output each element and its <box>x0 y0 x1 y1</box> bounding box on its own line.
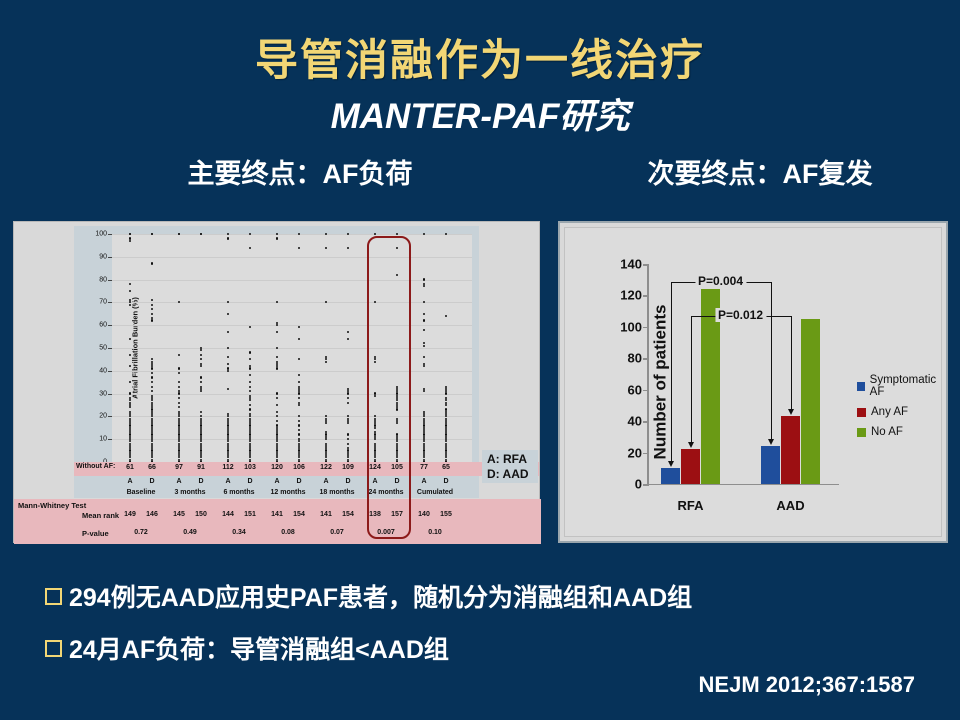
dotplot-point <box>423 285 425 287</box>
dotplot-tick-label: 20 <box>99 413 107 420</box>
dotplot-column <box>345 234 352 462</box>
dotplot-column <box>274 234 281 462</box>
dotplot-gridline <box>112 257 472 258</box>
dotplot-point <box>227 237 229 239</box>
primary-endpoint-label: 主要终点：AF负荷 <box>110 152 490 191</box>
dotplot-point <box>445 392 447 394</box>
dotplot-point <box>249 399 251 401</box>
bar-rfa-symptomatic-af <box>661 468 680 484</box>
dotplot-tick-mark <box>108 371 112 372</box>
dotplot-point <box>276 324 278 326</box>
dotplot-point <box>298 381 300 383</box>
dotplot-axes: Atrial Fibrillation Burden (%) 010203040… <box>112 234 472 463</box>
dotplot-point <box>178 372 180 374</box>
dotplot-point <box>374 361 376 363</box>
dotplot-point <box>227 370 229 372</box>
p-value-cell: 0.10 <box>410 529 460 536</box>
dotplot-tick-mark <box>108 257 112 258</box>
dotplot-point <box>298 247 300 249</box>
dotplot-point <box>178 354 180 356</box>
dotplot-point <box>276 301 278 303</box>
dotplot-point <box>298 433 300 435</box>
dotplot-column <box>127 234 134 462</box>
dotplot-point <box>298 424 300 426</box>
dotplot-point <box>129 233 131 235</box>
dotplot-point <box>200 349 202 351</box>
dotplot-point <box>249 390 251 392</box>
barchart-tick-mark <box>643 421 649 423</box>
dotplot-point <box>276 347 278 349</box>
dotplot-point <box>227 233 229 235</box>
dotplot-point <box>249 233 251 235</box>
legend-item-any-af: Any AF <box>857 406 941 418</box>
dotplot-point <box>227 388 229 390</box>
dotplot-point <box>347 233 349 235</box>
dotplot-point <box>129 354 131 356</box>
p-value-row-label: P-value <box>82 529 109 538</box>
dotplot-point <box>423 301 425 303</box>
dotplot-point <box>178 397 180 399</box>
p-value-annotation-label: P=0.012 <box>715 308 766 322</box>
group-key-a: A: RFA <box>487 452 538 467</box>
dotplot-point <box>276 404 278 406</box>
dotplot-point <box>129 392 131 394</box>
dotplot-point <box>151 308 153 310</box>
dotplot-point <box>151 381 153 383</box>
dotplot-point <box>347 422 349 424</box>
dotplot-point <box>178 367 180 369</box>
dotplot-tick-mark <box>108 439 112 440</box>
legend-label: Any AF <box>871 406 908 418</box>
legend-swatch-icon <box>857 408 866 417</box>
bullet-square-icon <box>45 640 62 657</box>
dotplot-point <box>325 422 327 424</box>
barchart-tick-mark <box>643 295 649 297</box>
dotplot-tick-label: 50 <box>99 345 107 352</box>
dotplot-point <box>151 319 153 321</box>
dotplot-point <box>151 390 153 392</box>
p-value-arrow-head-icon <box>788 409 794 415</box>
p-value-arrow-line <box>771 282 772 440</box>
dotplot-point <box>423 356 425 358</box>
dotplot-point <box>347 438 349 440</box>
bar-aad-symptomatic-af <box>761 446 780 484</box>
mann-whitney-title: Mann-Whitney Test <box>18 501 86 510</box>
dotplot-point <box>276 367 278 369</box>
legend-item-symptomatic-af: Symptomatic AF <box>857 374 941 398</box>
barchart-x-label: AAD <box>776 498 804 513</box>
barchart-axes: 020406080100120140 RFAAAD P=0.004P=0.012 <box>647 264 839 485</box>
barchart-tick-label: 120 <box>620 288 642 303</box>
dotplot-point <box>276 420 278 422</box>
dotplot-point <box>200 376 202 378</box>
dotplot-point <box>325 438 327 440</box>
without-af-count: 65 <box>426 464 466 471</box>
dotplot-point <box>276 415 278 417</box>
dotplot-point <box>347 433 349 435</box>
dotplot-point <box>249 408 251 410</box>
dotplot-gridline <box>112 302 472 303</box>
dotplot-point <box>423 233 425 235</box>
bullet-square-icon <box>45 588 62 605</box>
barchart-tick-mark <box>643 484 649 486</box>
dotplot-point <box>178 402 180 404</box>
dotplot-point <box>178 301 180 303</box>
dotplot-point <box>151 376 153 378</box>
barchart-x-label: RFA <box>678 498 704 513</box>
dotplot-point <box>298 429 300 431</box>
dotplot-point <box>200 358 202 360</box>
dotplot-inner-box: Atrial Fibrillation Burden (%) 010203040… <box>74 226 479 498</box>
dotplot-point <box>298 404 300 406</box>
dotplot-point <box>423 319 425 321</box>
dotplot-point <box>129 338 131 340</box>
dotplot-point <box>249 381 251 383</box>
bullet-text: 24月AF负荷：导管消融组<AAD组 <box>69 630 449 666</box>
dotplot-tick-mark <box>108 280 112 281</box>
dotplot-point <box>298 374 300 376</box>
timepoint-label: Cumulated <box>400 489 470 496</box>
dotplot-point <box>129 381 131 383</box>
dotplot-tick-mark <box>108 348 112 349</box>
dotplot-point <box>347 331 349 333</box>
dotplot-point <box>298 397 300 399</box>
dotplot-gridline <box>112 234 472 235</box>
dotplot-point <box>178 381 180 383</box>
dotplot-tick-label: 100 <box>95 231 107 238</box>
dotplot-tick-label: 70 <box>99 299 107 306</box>
legend-swatch-icon <box>857 382 865 391</box>
dotplot-point <box>178 233 180 235</box>
dotplot-point <box>276 392 278 394</box>
p-value-cell: 0.08 <box>263 529 313 536</box>
dotplot-tick-mark <box>108 394 112 395</box>
bullet-text: 294例无AAD应用史PAF患者，随机分为消融组和AAD组 <box>69 578 692 614</box>
dotplot-point <box>129 406 131 408</box>
barchart-tick-label: 40 <box>628 414 642 429</box>
dotplot-point <box>374 438 376 440</box>
dotplot-point <box>325 233 327 235</box>
p-value-annotation-label: P=0.004 <box>695 274 746 288</box>
dotplot-point <box>423 365 425 367</box>
p-value-cell: 0.72 <box>116 529 166 536</box>
p-value-cell: 0.49 <box>165 529 215 536</box>
barchart-legend: Symptomatic AFAny AFNo AF <box>857 374 941 446</box>
dotplot-point <box>249 351 251 353</box>
af-burden-dotplot-panel: Atrial Fibrillation Burden (%) 010203040… <box>13 221 540 543</box>
bullet-item-2: 24月AF负荷：导管消融组<AAD组 <box>45 630 449 666</box>
group-key-legend: A: RFA D: AAD <box>482 450 538 483</box>
dotplot-column <box>323 234 330 462</box>
legend-swatch-icon <box>857 428 866 437</box>
dotplot-point <box>298 326 300 328</box>
barchart-tick-mark <box>643 453 649 455</box>
dotplot-point <box>347 247 349 249</box>
dotplot-column <box>176 234 183 462</box>
dotplot-point <box>298 420 300 422</box>
bar-aad-any-af <box>781 416 800 484</box>
p-value-arrow-line <box>691 316 692 443</box>
dotplot-column <box>149 234 156 462</box>
dotplot-tick-label: 60 <box>99 322 107 329</box>
dotplot-tick-mark <box>108 302 112 303</box>
dotplot-point <box>276 411 278 413</box>
dotplot-point <box>200 233 202 235</box>
dotplot-point <box>249 404 251 406</box>
dotplot-point <box>178 392 180 394</box>
barchart-tick-label: 140 <box>620 257 642 272</box>
group-label: D <box>426 478 466 485</box>
bar-aad-no-af <box>801 319 820 484</box>
dotplot-point <box>249 367 251 369</box>
dotplot-point <box>325 247 327 249</box>
dotplot-point <box>298 358 300 360</box>
p-value-cell: 0.34 <box>214 529 264 536</box>
dotplot-point <box>227 331 229 333</box>
dotplot-point <box>276 331 278 333</box>
dotplot-point <box>374 233 376 235</box>
dotplot-point <box>445 404 447 406</box>
barchart-tick-label: 100 <box>620 319 642 334</box>
af-recurrence-barchart-panel: Number of patients 020406080100120140 RF… <box>558 221 948 543</box>
dotplot-point <box>347 392 349 394</box>
dotplot-column <box>394 234 401 462</box>
dotplot-point <box>423 390 425 392</box>
dotplot-point <box>200 381 202 383</box>
dotplot-gridline <box>112 439 472 440</box>
dotplot-point <box>200 411 202 413</box>
dotplot-tick-label: 10 <box>99 436 107 443</box>
dotplot-point <box>347 397 349 399</box>
dotplot-point <box>151 262 153 264</box>
dotplot-gridline <box>112 325 472 326</box>
dotplot-point <box>178 406 180 408</box>
dotplot-point <box>423 329 425 331</box>
dotplot-tick-label: 30 <box>99 390 107 397</box>
dotplot-point <box>396 274 398 276</box>
dotplot-point <box>347 402 349 404</box>
dotplot-column <box>247 234 254 462</box>
dotplot-point <box>151 299 153 301</box>
dotplot-point <box>249 386 251 388</box>
dotplot-point <box>298 415 300 417</box>
dotplot-point <box>276 237 278 239</box>
dotplot-tick-label: 80 <box>99 276 107 283</box>
dotplot-gridline <box>112 348 472 349</box>
dotplot-point <box>423 278 425 280</box>
dotplot-gridline <box>112 394 472 395</box>
dotplot-gridline <box>112 371 472 372</box>
dotplot-tick-label: 40 <box>99 367 107 374</box>
dotplot-point <box>396 422 398 424</box>
mean-rank-value: 155 <box>421 511 471 518</box>
dotplot-point <box>249 247 251 249</box>
barchart-inner-box: Number of patients 020406080100120140 RF… <box>564 227 942 537</box>
barchart-tick-label: 80 <box>628 351 642 366</box>
dotplot-point <box>129 290 131 292</box>
dotplot-point <box>227 313 229 315</box>
dotplot-point <box>396 233 398 235</box>
dotplot-point <box>325 361 327 363</box>
dotplot-point <box>227 363 229 365</box>
dotplot-point <box>276 397 278 399</box>
legend-item-no-af: No AF <box>857 426 941 438</box>
dotplot-point <box>249 358 251 360</box>
dotplot-gridline <box>112 416 472 417</box>
bar-rfa-any-af <box>681 449 700 484</box>
dotplot-tick-mark <box>108 325 112 326</box>
p-value-arrow-line <box>791 316 792 410</box>
barchart-tick-mark <box>643 264 649 266</box>
dotplot-point <box>396 247 398 249</box>
dotplot-point <box>151 233 153 235</box>
barchart-tick-mark <box>643 390 649 392</box>
dotplot-point <box>129 240 131 242</box>
dotplot-point <box>298 233 300 235</box>
dotplot-point <box>151 313 153 315</box>
dotplot-point <box>227 347 229 349</box>
barchart-tick-mark <box>643 358 649 360</box>
dotplot-column <box>198 234 205 462</box>
dotplot-column <box>443 234 450 462</box>
dotplot-point <box>200 390 202 392</box>
dotplot-point <box>374 395 376 397</box>
barchart-tick-mark <box>643 327 649 329</box>
dotplot-point <box>249 326 251 328</box>
dotplot-point <box>227 301 229 303</box>
dotplot-point <box>178 386 180 388</box>
p-value-cell: 0.07 <box>312 529 362 536</box>
dotplot-point <box>325 301 327 303</box>
dotplot-gridline <box>112 280 472 281</box>
citation-text: NEJM 2012;367:1587 <box>0 672 915 698</box>
dotplot-tick-mark <box>108 234 112 235</box>
secondary-endpoint-label: 次要终点：AF复发 <box>580 152 940 191</box>
p-value-arrow-line <box>671 282 672 462</box>
dotplot-point <box>374 301 376 303</box>
barchart-tick-label: 0 <box>635 477 642 492</box>
p-value-cell: 0.007 <box>361 529 411 536</box>
dotplot-tick-label: 90 <box>99 253 107 260</box>
dotplot-point <box>151 367 153 369</box>
dotplot-point <box>227 356 229 358</box>
dotplot-point <box>347 338 349 340</box>
dotplot-point <box>423 313 425 315</box>
bullet-item-1: 294例无AAD应用史PAF患者，随机分为消融组和AAD组 <box>45 578 692 614</box>
dotplot-point <box>396 408 398 410</box>
page-subtitle: MANTER-PAF研究 <box>0 88 960 139</box>
barchart-tick-label: 60 <box>628 382 642 397</box>
legend-label: No AF <box>871 426 903 438</box>
legend-label: Symptomatic AF <box>870 374 941 398</box>
dotplot-point <box>298 392 300 394</box>
dotplot-column <box>225 234 232 462</box>
dotplot-point <box>276 233 278 235</box>
dotplot-column <box>421 234 428 462</box>
dotplot-column <box>296 234 303 462</box>
barchart-tick-label: 20 <box>628 445 642 460</box>
dotplot-column <box>372 234 379 462</box>
dotplot-point <box>423 345 425 347</box>
dotplot-point <box>200 354 202 356</box>
dotplot-point <box>374 427 376 429</box>
dotplot-point <box>276 356 278 358</box>
dotplot-tick-mark <box>108 416 112 417</box>
dotplot-point <box>445 233 447 235</box>
dotplot-point <box>445 315 447 317</box>
dotplot-point <box>151 386 153 388</box>
dotplot-point <box>129 304 131 306</box>
p-value-arrow-head-icon <box>668 461 674 467</box>
dotplot-point <box>249 374 251 376</box>
page-title: 导管消融作为一线治疗 <box>0 26 960 88</box>
dotplot-point <box>347 443 349 445</box>
dotplot-point <box>129 365 131 367</box>
p-value-arrow-head-icon <box>768 439 774 445</box>
dotplot-point <box>200 365 202 367</box>
dotplot-point <box>298 338 300 340</box>
dotplot-point <box>129 283 131 285</box>
dotplot-point <box>151 372 153 374</box>
p-value-arrow-head-icon <box>688 442 694 448</box>
group-key-d: D: AAD <box>487 467 538 482</box>
dotplot-point <box>151 304 153 306</box>
